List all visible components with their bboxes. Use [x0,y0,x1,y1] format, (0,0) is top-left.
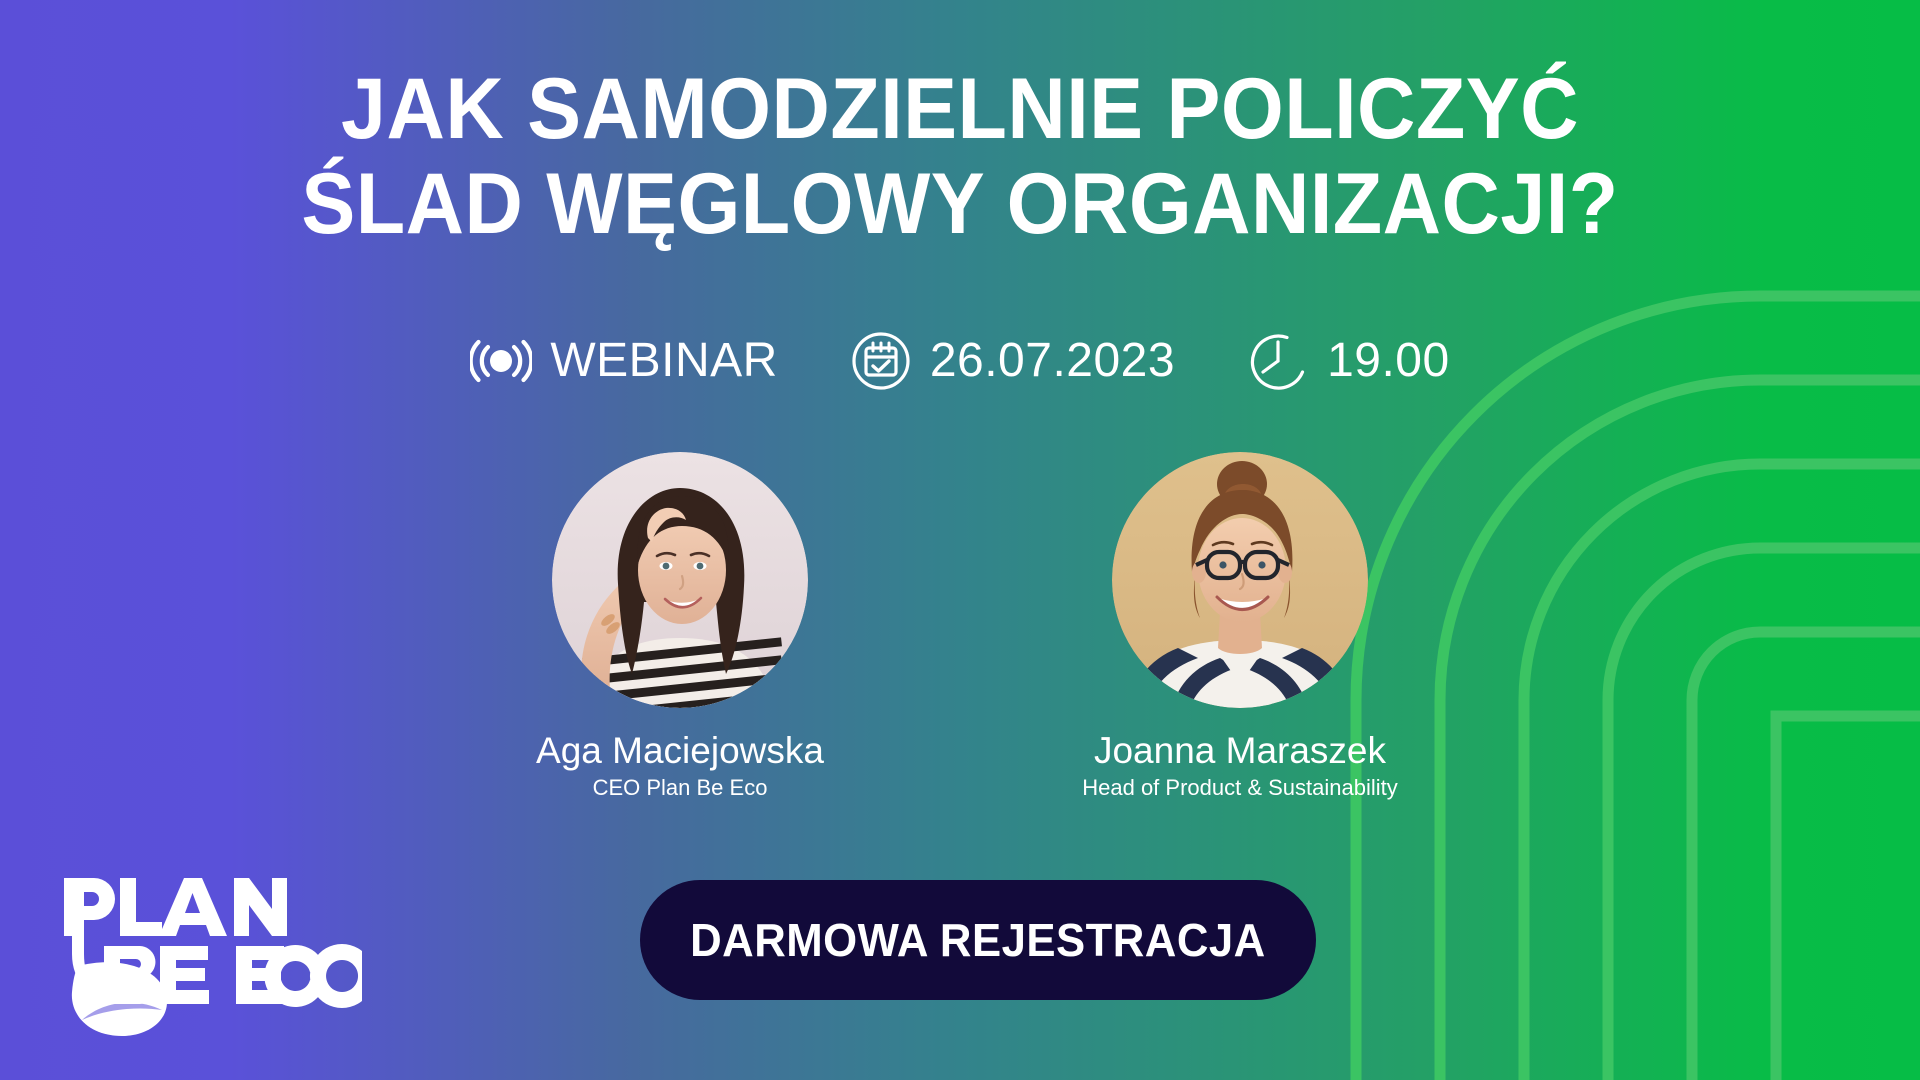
meta-item-format: WEBINAR [470,330,778,392]
event-meta-row: WEBINAR 26.07.2023 [0,330,1920,392]
logo-plan-be-eco[interactable]: PLAN BE ECO [42,870,362,1050]
webinar-promo-banner: JAK SAMODZIELNIE POLICZYĆ ŚLAD WĘGLOWY O… [0,0,1920,1080]
speaker-role: Head of Product & Sustainability [1080,775,1400,801]
page-title: JAK SAMODZIELNIE POLICZYĆ ŚLAD WĘGLOWY O… [0,62,1920,251]
calendar-check-icon [850,330,912,392]
speaker-card: Aga Maciejowska CEO Plan Be Eco [520,452,840,802]
speaker-photo-aga [552,452,808,708]
speakers-row: Aga Maciejowska CEO Plan Be Eco [0,452,1920,802]
meta-item-time: 19.00 [1247,330,1450,392]
avatar [1112,452,1368,708]
speaker-name: Aga Maciejowska [520,730,840,771]
speaker-name: Joanna Maraszek [1080,730,1400,771]
registration-button-label: DARMOWA REJESTRACJA [690,913,1266,967]
broadcast-icon [470,330,532,392]
registration-button[interactable]: DARMOWA REJESTRACJA [640,880,1316,1000]
speaker-card: Joanna Maraszek Head of Product & Sustai… [1080,452,1400,802]
title-line-2: ŚLAD WĘGLOWY ORGANIZACJI? [58,157,1863,252]
clock-icon [1247,330,1309,392]
meta-label-format: WEBINAR [550,337,778,385]
avatar [552,452,808,708]
logo-mark [42,870,362,1050]
title-line-1: JAK SAMODZIELNIE POLICZYĆ [58,62,1863,157]
meta-item-date: 26.07.2023 [850,330,1175,392]
speaker-photo-joanna [1112,452,1368,708]
speaker-role: CEO Plan Be Eco [520,775,840,801]
meta-label-time: 19.00 [1327,337,1450,385]
meta-label-date: 26.07.2023 [930,337,1175,385]
